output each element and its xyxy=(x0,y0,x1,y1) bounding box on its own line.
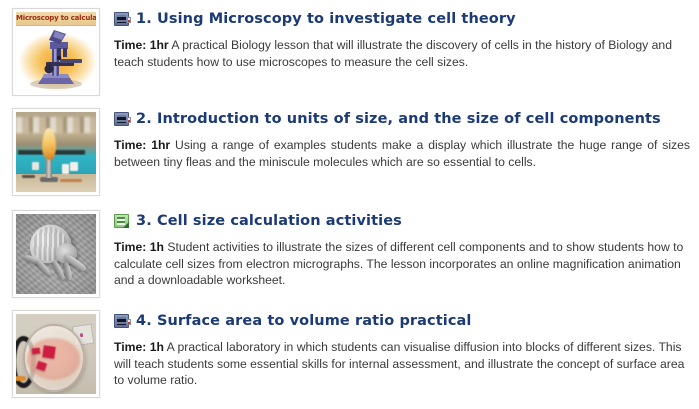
page-title[interactable]: 4. Surface area to volume ratio practica… xyxy=(114,312,690,330)
description-text: Using a range of examples students make … xyxy=(114,138,690,169)
bench-object xyxy=(60,179,82,182)
lesson-title-text: Surface area to volume ratio practical xyxy=(157,312,472,330)
lesson-content-cell: 2. Introduction to units of size, and th… xyxy=(114,100,699,170)
lesson-title-text: Introduction to units of size, and the s… xyxy=(157,110,661,128)
lesson-number: 2. xyxy=(136,110,152,128)
background-shelf xyxy=(16,117,96,133)
agar-block xyxy=(42,345,56,359)
lesson-thumbnail-cell: Microscopy to calculate cell size xyxy=(0,0,114,96)
list-item: 2. Introduction to units of size, and th… xyxy=(0,100,699,202)
list-item: 4. Surface area to volume ratio practica… xyxy=(0,302,699,402)
lesson-content-cell: 1. Using Microscopy to investigate cell … xyxy=(114,0,699,70)
bunsen-burner-stem xyxy=(46,159,52,178)
thumbnail-image: Microscopy to calculate cell size xyxy=(16,12,96,92)
microscope-icon xyxy=(16,22,96,92)
description-text: A practical laboratory in which students… xyxy=(114,340,684,387)
orange-cable xyxy=(16,376,26,381)
lesson-title-text: Cell size calculation activities xyxy=(157,212,402,230)
reagent-bottle xyxy=(32,162,39,169)
thumbnail-image xyxy=(16,314,96,394)
bench-object xyxy=(22,175,35,178)
petri-dish-agar-blocks-thumbnail[interactable] xyxy=(12,310,100,398)
time-value: 1h xyxy=(150,340,164,354)
time-label: Time: xyxy=(114,340,146,354)
time-label: Time: xyxy=(114,38,146,52)
electron-micrograph-weevil-thumbnail[interactable] xyxy=(12,210,100,298)
lesson-description: Time: 1hr Using a range of examples stud… xyxy=(114,137,690,170)
slides-icon xyxy=(114,112,129,126)
lesson-title-text: Using Microscopy to investigate cell the… xyxy=(157,10,516,28)
worksheet-icon xyxy=(114,214,129,228)
lesson-thumbnail-cell xyxy=(0,100,114,196)
lesson-description: Time: 1hr A practical Biology lesson tha… xyxy=(114,37,690,70)
lesson-content-cell: 3. Cell size calculation activities Time… xyxy=(114,202,699,289)
time-label: Time: xyxy=(114,240,146,254)
lesson-list: Microscopy to calculate cell size xyxy=(0,0,699,402)
lesson-description: Time: 1h Student activities to illustrat… xyxy=(114,239,690,289)
description-text: A practical Biology lesson that will ill… xyxy=(114,38,672,69)
microscope-illustration-thumbnail[interactable]: Microscopy to calculate cell size xyxy=(12,8,100,96)
thumbnail-image xyxy=(16,214,96,294)
lesson-description: Time: 1h A practical laboratory in which… xyxy=(114,339,690,389)
lesson-content-cell: 4. Surface area to volume ratio practica… xyxy=(114,302,699,389)
page-title[interactable]: 1. Using Microscopy to investigate cell … xyxy=(114,10,690,28)
list-item: 3. Cell size calculation activities Time… xyxy=(0,202,699,302)
bunsen-burner-lab-bench-thumbnail[interactable] xyxy=(12,108,100,196)
slides-icon xyxy=(114,12,129,26)
blue-bench-mat xyxy=(16,155,96,176)
lesson-number: 1. xyxy=(136,10,152,28)
reagent-bottle xyxy=(62,164,69,174)
description-text: Student activities to illustrate the siz… xyxy=(114,240,683,287)
reagent-bottle xyxy=(70,162,77,171)
page-title[interactable]: 2. Introduction to units of size, and th… xyxy=(114,110,690,128)
lesson-number: 3. xyxy=(136,212,152,230)
page-title[interactable]: 3. Cell size calculation activities xyxy=(114,212,690,230)
lesson-number: 4. xyxy=(136,312,152,330)
slides-icon xyxy=(114,314,129,328)
time-label: Time: xyxy=(114,138,146,152)
time-value: 1h xyxy=(150,240,164,254)
lesson-thumbnail-cell xyxy=(0,202,114,298)
time-value: 1hr xyxy=(151,138,170,152)
thumbnail-image xyxy=(16,112,96,192)
lesson-thumbnail-cell xyxy=(0,302,114,398)
list-item: Microscopy to calculate cell size xyxy=(0,0,699,100)
time-value: 1hr xyxy=(150,38,169,52)
